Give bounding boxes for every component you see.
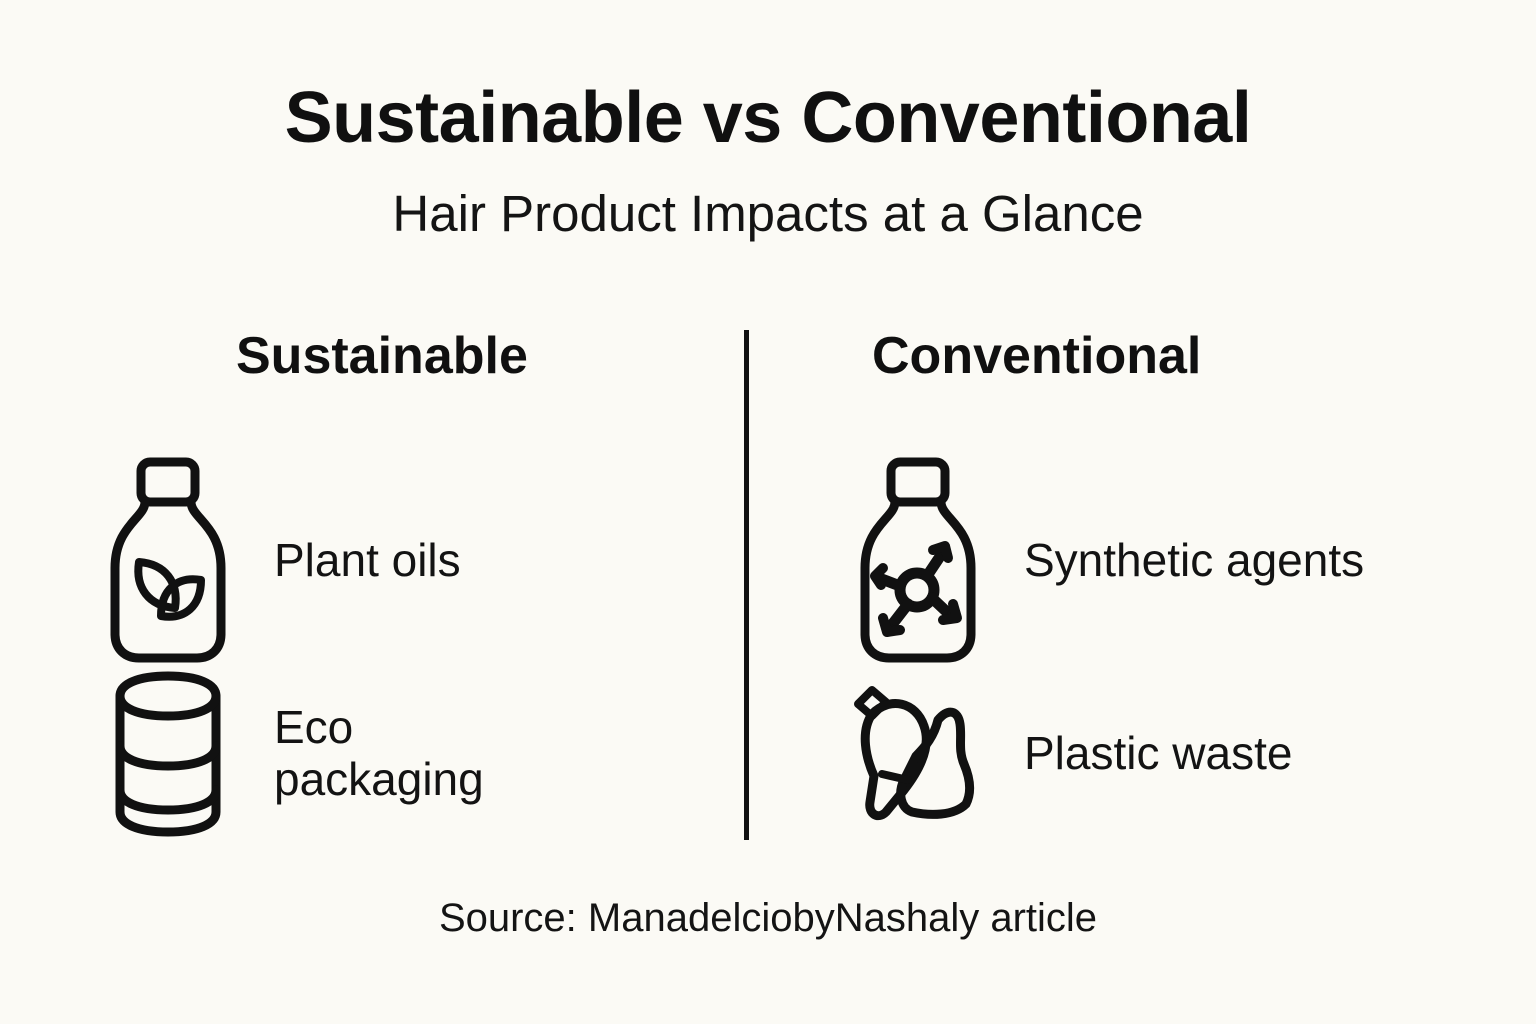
column-sustainable: Sustainable bbox=[40, 330, 740, 842]
list-item-label: Synthetic agents bbox=[1002, 535, 1364, 587]
list-item: Plant oils bbox=[40, 456, 740, 666]
page-subtitle: Hair Product Impacts at a Glance bbox=[0, 154, 1536, 239]
column-divider bbox=[744, 330, 749, 840]
source-attribution: Source: ManadelciobyNashaly article bbox=[0, 898, 1536, 938]
page-title: Sustainable vs Conventional bbox=[0, 82, 1536, 154]
comparison-columns: Sustainable bbox=[0, 330, 1536, 850]
header: Sustainable vs Conventional Hair Product… bbox=[0, 82, 1536, 239]
list-item-label: Plastic waste bbox=[1002, 728, 1292, 780]
bottle-molecule-icon bbox=[834, 456, 1002, 666]
jar-container-icon bbox=[84, 670, 252, 838]
bottle-leaf-icon bbox=[84, 456, 252, 666]
column-heading-sustainable: Sustainable bbox=[40, 330, 740, 382]
conventional-rows: Synthetic agents bbox=[790, 456, 1490, 842]
list-item-label: Eco packaging bbox=[252, 702, 484, 805]
infographic-card: Sustainable vs Conventional Hair Product… bbox=[0, 0, 1536, 1024]
list-item-label: Plant oils bbox=[252, 535, 461, 587]
list-item: Synthetic agents bbox=[790, 456, 1490, 666]
list-item: Eco packaging bbox=[40, 666, 740, 842]
sustainable-rows: Plant oils bbox=[40, 456, 740, 842]
crushed-plastic-bottles-icon bbox=[834, 680, 1002, 828]
list-item: Plastic waste bbox=[790, 666, 1490, 842]
column-heading-conventional: Conventional bbox=[790, 330, 1490, 382]
footer: Source: ManadelciobyNashaly article bbox=[0, 898, 1536, 938]
column-conventional: Conventional bbox=[790, 330, 1490, 842]
